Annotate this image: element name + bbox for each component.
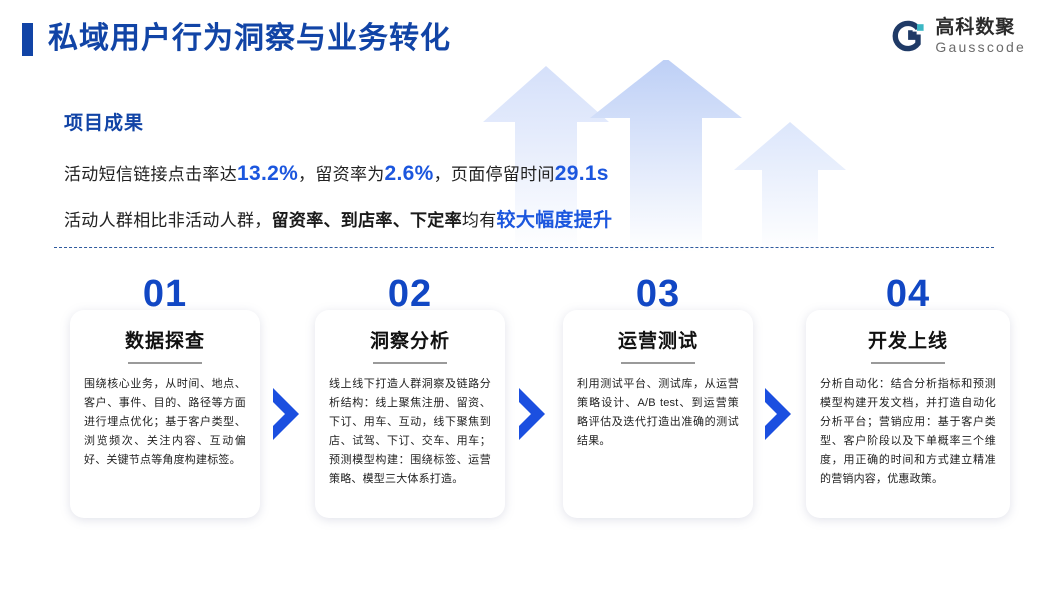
results-line1-seg1: 活动短信链接点击率达: [64, 165, 237, 184]
step-rule-3: [621, 362, 695, 364]
step-card-4[interactable]: 04 开发上线 分析自动化：结合分析指标和预测模型构建开发文档，并打造自动化分析…: [806, 310, 1010, 518]
step-number-4: 04: [806, 274, 1010, 314]
results-line1-seg3: ，页面停留时间: [434, 165, 555, 184]
project-results-block: 项目成果 活动短信链接点击率达13.2%，留资率为2.6%，页面停留时间29.1…: [64, 108, 924, 238]
step-title-3: 运营测试: [577, 330, 739, 354]
step-card-2[interactable]: 02 洞察分析 线上线下打造人群洞察及链路分析结构：线上聚焦注册、留资、下订、用…: [315, 310, 505, 518]
step-rule-4: [871, 362, 945, 364]
results-heading: 项目成果: [64, 108, 924, 135]
slide-header: 私域用户行为洞察与业务转化 高科数聚 Gausscode: [0, 0, 1048, 78]
stat-click-rate: 13.2%: [237, 162, 298, 185]
brand-name-cn: 高科数聚: [935, 18, 1026, 37]
step-number-1: 01: [70, 274, 260, 314]
step-body-3: 利用测试平台、测试库，从运营策略设计、A/B test、到运营策略评估及迭代打造…: [577, 375, 739, 451]
results-line1-seg2: ，留资率为: [298, 165, 385, 184]
page-title: 私域用户行为洞察与业务转化: [48, 19, 451, 59]
results-line-2: 活动人群相比非活动人群，留资率、到店率、下定率均有较大幅度提升: [64, 204, 924, 238]
step-number-3: 03: [563, 274, 753, 314]
section-divider: [54, 247, 994, 248]
stat-dwell-time: 29.1s: [555, 162, 609, 185]
step-title-4: 开发上线: [820, 330, 996, 354]
step-title-1: 数据探查: [84, 330, 246, 354]
brand-logo: 高科数聚 Gausscode: [888, 17, 1026, 55]
results-line2-highlight: 较大幅度提升: [497, 210, 613, 231]
results-line2-seg2: 均有: [462, 211, 497, 230]
step-rule-1: [128, 362, 202, 364]
results-line2-metrics: 留资率、到店率、下定率: [272, 211, 462, 230]
step-body-2: 线上线下打造人群洞察及链路分析结构：线上聚焦注册、留资、下订、用车、互动，线下聚…: [329, 375, 491, 489]
step-body-1: 围绕核心业务，从时间、地点、客户、事件、目的、路径等方面进行埋点优化；基于客户类…: [84, 375, 246, 470]
gausscode-logo-mark-icon: [888, 17, 926, 55]
step-body-4: 分析自动化：结合分析指标和预测模型构建开发文档，并打造自动化分析平台；营销应用：…: [820, 375, 996, 489]
title-marker-bar: [22, 23, 33, 56]
stat-lead-rate: 2.6%: [385, 162, 434, 185]
step-number-2: 02: [315, 274, 505, 314]
results-line-1: 活动短信链接点击率达13.2%，留资率为2.6%，页面停留时间29.1s: [64, 157, 924, 192]
brand-logo-text: 高科数聚 Gausscode: [935, 18, 1026, 54]
chevron-right-icon-2: [514, 386, 550, 442]
results-line2-seg1: 活动人群相比非活动人群，: [64, 211, 272, 230]
step-card-1[interactable]: 01 数据探查 围绕核心业务，从时间、地点、客户、事件、目的、路径等方面进行埋点…: [70, 310, 260, 518]
chevron-right-icon-1: [268, 386, 304, 442]
step-card-3[interactable]: 03 运营测试 利用测试平台、测试库，从运营策略设计、A/B test、到运营策…: [563, 310, 753, 518]
brand-name-en: Gausscode: [935, 40, 1026, 54]
step-rule-2: [373, 362, 447, 364]
slide-root: 私域用户行为洞察与业务转化 高科数聚 Gausscode: [0, 0, 1048, 591]
chevron-right-icon-3: [760, 386, 796, 442]
step-title-2: 洞察分析: [329, 330, 491, 354]
process-steps: 01 数据探查 围绕核心业务，从时间、地点、客户、事件、目的、路径等方面进行埋点…: [0, 272, 1048, 532]
